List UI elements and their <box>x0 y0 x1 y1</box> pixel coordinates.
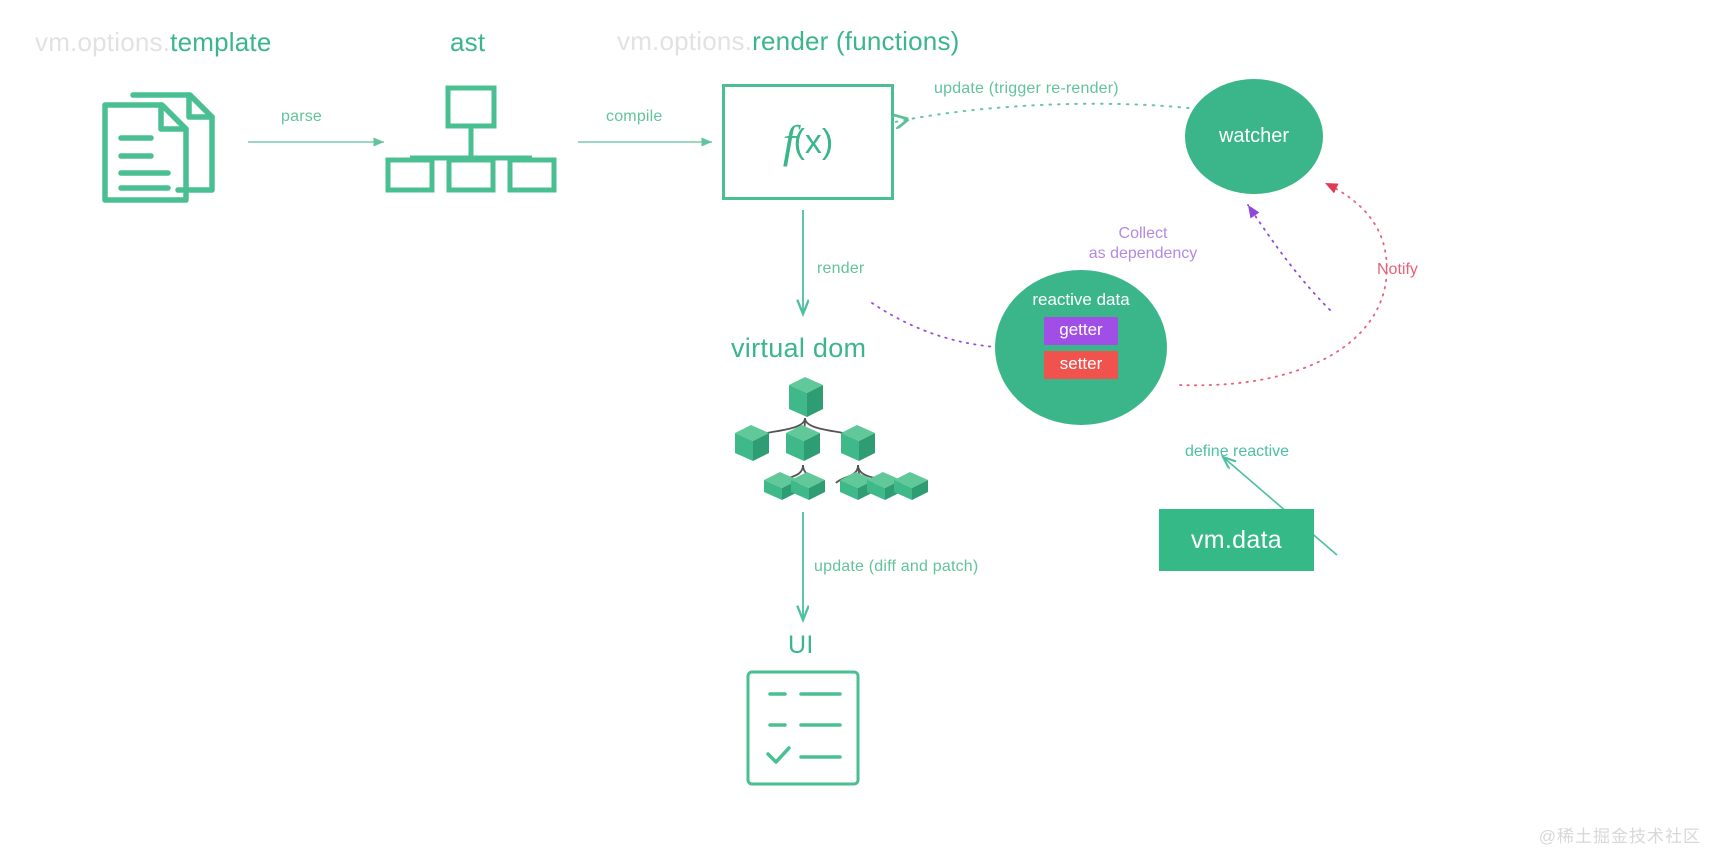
vdom-cube-l3-b <box>791 472 825 500</box>
heading-template-prefix: vm.options. <box>35 27 170 57</box>
template-document-icon <box>105 95 212 200</box>
notify-arrow <box>1180 183 1387 385</box>
reactive-data-label: reactive data <box>1032 290 1129 310</box>
label-notify: Notify <box>1377 260 1418 280</box>
vdom-cube-l2-a <box>735 425 769 461</box>
label-render: render <box>817 259 864 279</box>
render-function-x: (x) <box>794 125 834 159</box>
vdom-cube-l3-e <box>894 472 928 500</box>
heading-render-prefix: vm.options. <box>617 26 752 56</box>
label-parse: parse <box>281 107 322 127</box>
label-compile: compile <box>606 107 663 127</box>
render-function-box: f(x) <box>722 84 894 200</box>
watermark: @稀土掘金技术社区 <box>1539 822 1701 847</box>
label-collect-line1: Collect <box>1119 225 1168 242</box>
vdom-cube-l2-b <box>786 425 820 461</box>
heading-template: vm.options.template <box>35 27 271 59</box>
collect-dependency-arrow-out <box>1248 205 1330 310</box>
vm-data-box: vm.data <box>1159 509 1314 571</box>
label-collect-line2: as dependency <box>1089 245 1198 262</box>
reactive-data-node: reactive data getter setter <box>995 270 1167 425</box>
vdom-cube-l3-c <box>840 472 874 500</box>
label-update-diff-patch: update (diff and patch) <box>814 557 978 577</box>
ui-title: UI <box>788 630 814 661</box>
label-define-reactive: define reactive <box>1185 442 1289 462</box>
vdom-cube-l3-d <box>867 472 901 500</box>
heading-render: vm.options.render (functions) <box>617 26 960 58</box>
diagram-canvas: vm.options.template ast vm.options.rende… <box>0 0 1717 859</box>
label-collect-as-dependency: Collect as dependency <box>1085 224 1201 264</box>
vm-data-label: vm.data <box>1191 526 1282 555</box>
label-update-rerender: update (trigger re-render) <box>934 79 1119 99</box>
watcher-label: watcher <box>1219 125 1289 148</box>
heading-template-accent: template <box>170 27 271 57</box>
getter-chip: getter <box>1044 317 1118 345</box>
heading-render-accent: render (functions) <box>752 26 959 56</box>
vdom-cube-l2-c <box>841 425 875 461</box>
watcher-node: watcher <box>1185 79 1323 194</box>
vdom-cube-l3-a <box>764 472 798 500</box>
virtual-dom-title: virtual dom <box>731 332 866 365</box>
ast-tree-icon <box>388 88 554 190</box>
vdom-cube-root <box>789 377 823 417</box>
virtual-dom-tree-icon <box>735 377 928 500</box>
heading-ast: ast <box>450 27 485 59</box>
setter-chip: setter <box>1044 351 1118 379</box>
ui-checklist-icon <box>748 672 858 784</box>
